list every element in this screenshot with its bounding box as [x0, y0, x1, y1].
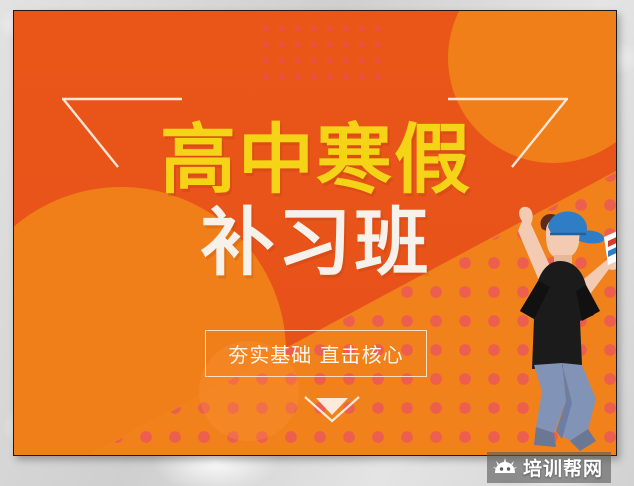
subtitle-box: 夯实基础 直击核心: [205, 330, 427, 377]
watermark: 培训帮网: [487, 452, 611, 483]
poster-frame: 高中寒假 补习班 夯实基础 直击核心: [13, 10, 617, 456]
subtitle-text: 夯实基础 直击核心: [228, 339, 403, 368]
sunburst-eye-icon: [493, 458, 517, 478]
corner-bracket-right-icon: [444, 97, 568, 169]
watermark-text: 培训帮网: [523, 454, 603, 481]
jumping-student-illustration: [476, 193, 617, 456]
corner-bracket-left-icon: [62, 97, 186, 169]
page-backdrop: 高中寒假 补习班 夯实基础 直击核心: [0, 0, 634, 486]
dot-grid-top: [262, 25, 390, 89]
chevron-down-icon: [301, 393, 363, 429]
